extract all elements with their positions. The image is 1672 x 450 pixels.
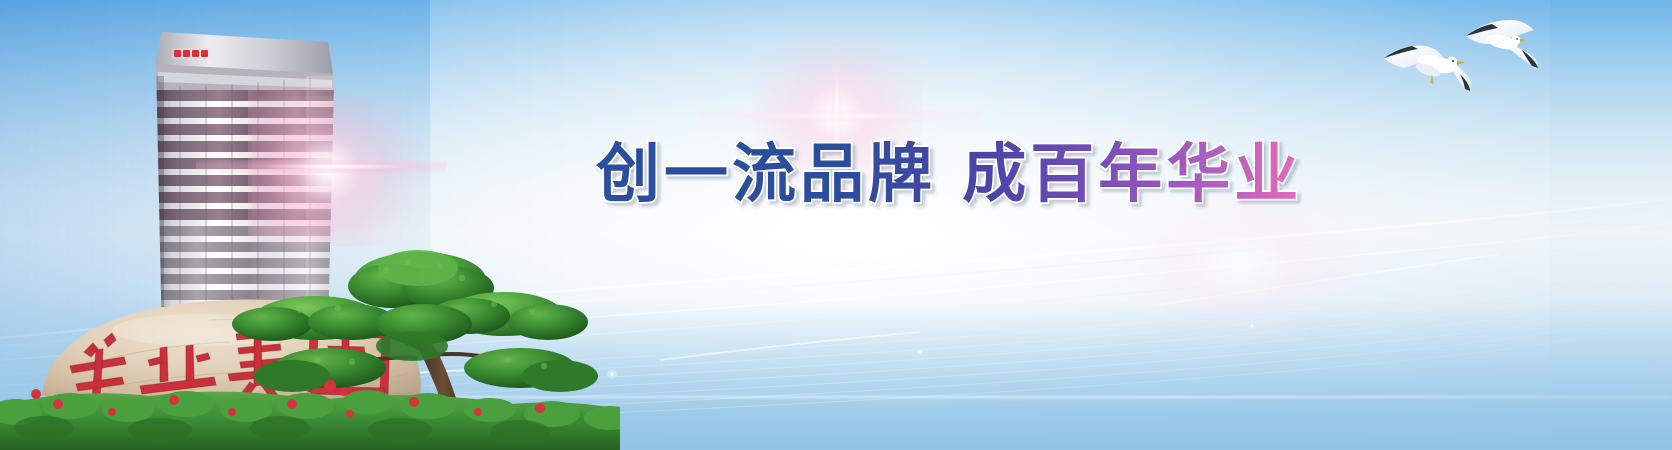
seagulls-group xyxy=(1370,8,1550,118)
seagull-lower-left xyxy=(1384,46,1472,93)
slogan-block: 创一流品牌 成百年华业 xyxy=(596,134,1356,218)
seagull-upper-right xyxy=(1466,20,1538,70)
rooftop-sign xyxy=(172,48,212,59)
hero-banner: 创一流品牌 成百年华业 xyxy=(0,0,1672,450)
slogan-text: 创一流品牌 成百年华业 xyxy=(596,134,1356,218)
lens-flare-building-streak xyxy=(196,160,446,173)
monument-scene xyxy=(0,190,620,450)
slogan-text-line: 创一流品牌 成百年华业 xyxy=(596,138,1302,212)
